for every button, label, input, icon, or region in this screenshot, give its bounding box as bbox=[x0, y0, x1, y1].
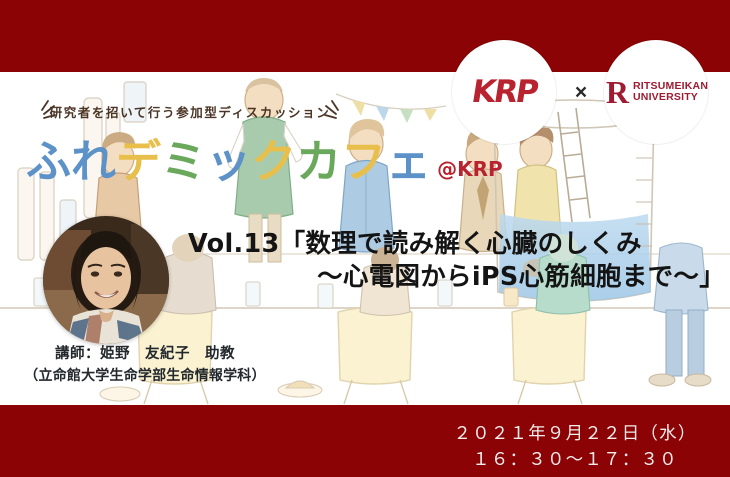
logo-separator-x: × bbox=[564, 82, 598, 103]
speaker-name: 講師：姫野 友紀子 助教 bbox=[0, 344, 290, 365]
speaker-caption: 講師：姫野 友紀子 助教 （立命館大学生命学部生命情報学科） bbox=[0, 344, 290, 385]
logo-row: KRP × R RITSUMEIKAN UNIVERSITY bbox=[452, 38, 722, 146]
logotype-char-8: ェ bbox=[386, 139, 431, 184]
ritsumeikan-initial-r: R bbox=[606, 78, 629, 107]
sub-headline-wrap: 研究者を招いて行う参加型ディスカッション bbox=[30, 97, 350, 125]
krp-logo: KRP bbox=[452, 40, 556, 144]
ritsumeikan-name-line2: UNIVERSITY bbox=[633, 92, 708, 103]
main-title-line-2: 〜心電図からiPS心筋細胞まで〜」 bbox=[150, 261, 725, 294]
krp-wordmark: KRP bbox=[469, 74, 539, 110]
logotype-char-0: ふ bbox=[26, 139, 71, 184]
main-title-line-1: Vol.13「数理で読み解く心臓のしくみ bbox=[150, 228, 725, 261]
schedule-block: ２０２１年９月２２日（水） １６：３０〜１７：３０ bbox=[430, 420, 720, 473]
speaker-affiliation: （立命館大学生命学部生命情報学科） bbox=[0, 365, 290, 385]
event-logotype: ふ れ デ ミ ッ ク カ フ ェ @KRP bbox=[26, 126, 446, 184]
event-time: １６：３０〜１７：３０ bbox=[430, 446, 720, 472]
main-title: Vol.13「数理で読み解く心臓のしくみ 〜心電図からiPS心筋細胞まで〜」 bbox=[150, 228, 725, 294]
sub-headline: 研究者を招いて行う参加型ディスカッション bbox=[50, 102, 331, 121]
at-krp-label: @KRP bbox=[437, 157, 503, 181]
ritsumeikan-logo: R RITSUMEIKAN UNIVERSITY bbox=[604, 40, 708, 144]
poster-canvas: KRP × R RITSUMEIKAN UNIVERSITY 研究者を招いて行う… bbox=[0, 0, 730, 477]
logotype-char-4: ッ bbox=[206, 139, 251, 184]
logotype-char-5: ク bbox=[251, 139, 296, 184]
logotype-char-2: デ bbox=[116, 139, 161, 184]
sparkle-right-icon bbox=[322, 98, 352, 124]
logotype-char-1: れ bbox=[71, 139, 116, 184]
logotype-char-3: ミ bbox=[161, 139, 206, 184]
event-date: ２０２１年９月２２日（水） bbox=[430, 420, 720, 446]
logotype-char-6: カ bbox=[296, 139, 341, 184]
logotype-char-7: フ bbox=[341, 139, 386, 184]
